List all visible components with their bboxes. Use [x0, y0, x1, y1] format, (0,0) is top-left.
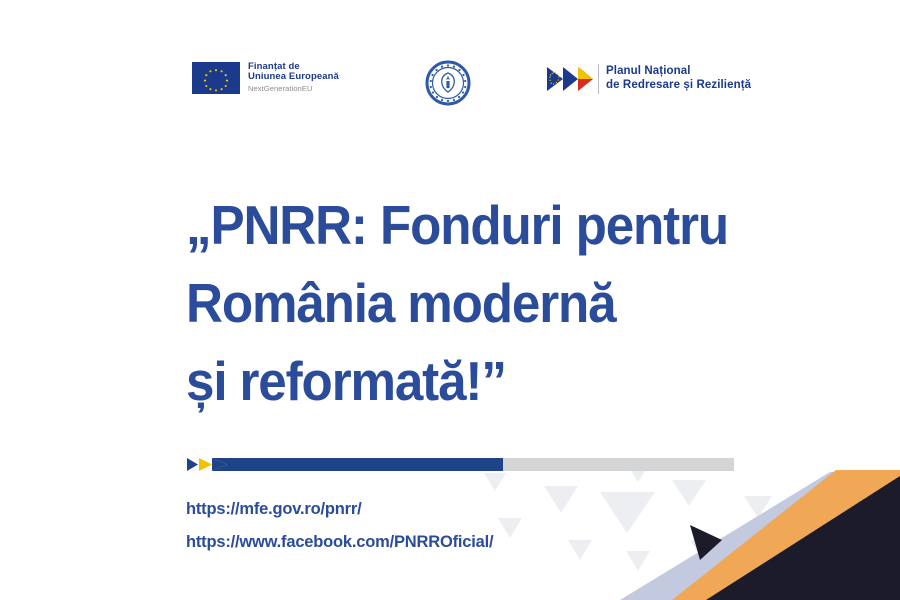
progress-bar-arrow-icon: [186, 457, 246, 472]
main-headline: „PNRR: Fonduri pentru România modernă și…: [186, 186, 806, 420]
pnrr-logo-text: Planul Național de Redresare și Rezilien…: [606, 65, 751, 92]
eu-flag-icon: [192, 62, 240, 94]
headline-line-2: România modernă: [186, 264, 763, 342]
decorative-progress-bar: [186, 458, 734, 471]
headline-line-3: și reformată!”: [186, 342, 763, 420]
logo-strip: Finanțat de Uniunea Europeană NextGenera…: [0, 62, 900, 114]
pnrr-triangles-icon: [547, 65, 593, 93]
url-mfe[interactable]: https://mfe.gov.ro/pnrr/: [186, 500, 493, 519]
url-list: https://mfe.gov.ro/pnrr/ https://www.fac…: [186, 500, 493, 566]
pnrr-promotional-banner: Finanțat de Uniunea Europeană NextGenera…: [0, 0, 900, 600]
eu-logo-line3: NextGenerationEU: [248, 85, 339, 93]
pnrr-logo: Planul Național de Redresare și Rezilien…: [547, 64, 751, 94]
headline-line-1: „PNRR: Fonduri pentru: [186, 186, 763, 264]
romanian-government-seal-icon: [425, 60, 471, 106]
eu-funding-logo: Finanțat de Uniunea Europeană NextGenera…: [192, 62, 339, 94]
pnrr-logo-line2: de Redresare și Reziliență: [606, 79, 751, 93]
pnrr-divider: [598, 64, 599, 94]
progress-bar-fill: [227, 458, 503, 471]
pnrr-logo-line1: Planul Național: [606, 65, 751, 79]
url-facebook[interactable]: https://www.facebook.com/PNRROficial/: [186, 533, 493, 552]
eu-logo-line2: Uniunea Europeană: [248, 72, 339, 82]
eu-logo-text: Finanțat de Uniunea Europeană NextGenera…: [248, 62, 339, 93]
